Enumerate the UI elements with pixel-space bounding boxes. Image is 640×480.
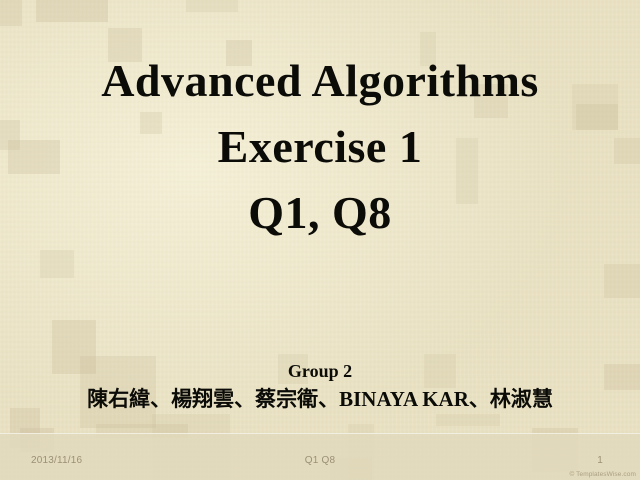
- title-line-1: Advanced Algorithms: [0, 48, 640, 114]
- template-watermark: © TemplatesWise.com: [569, 471, 636, 478]
- decorative-square: [604, 264, 640, 298]
- member-names: 陳右緯、楊翔雲、蔡宗衛、BINAYA KAR、林淑慧: [0, 384, 640, 414]
- footer-date: 2013/11/16: [31, 455, 82, 466]
- presentation-slide: Advanced Algorithms Exercise 1 Q1, Q8 Gr…: [0, 0, 640, 480]
- title-line-2: Exercise 1: [0, 114, 640, 180]
- slide-subtitle: Group 2 陳右緯、楊翔雲、蔡宗衛、BINAYA KAR、林淑慧: [0, 358, 640, 414]
- decorative-square: [0, 0, 22, 26]
- decorative-square: [36, 0, 108, 22]
- slide-title: Advanced Algorithms Exercise 1 Q1, Q8: [0, 48, 640, 246]
- decorative-square: [436, 414, 500, 426]
- title-line-3: Q1, Q8: [0, 180, 640, 246]
- decorative-square: [40, 250, 74, 278]
- footer-title: Q1 Q8: [305, 455, 335, 466]
- decorative-square: [186, 0, 238, 12]
- footer-page-number: 1: [597, 455, 603, 466]
- group-label: Group 2: [0, 358, 640, 384]
